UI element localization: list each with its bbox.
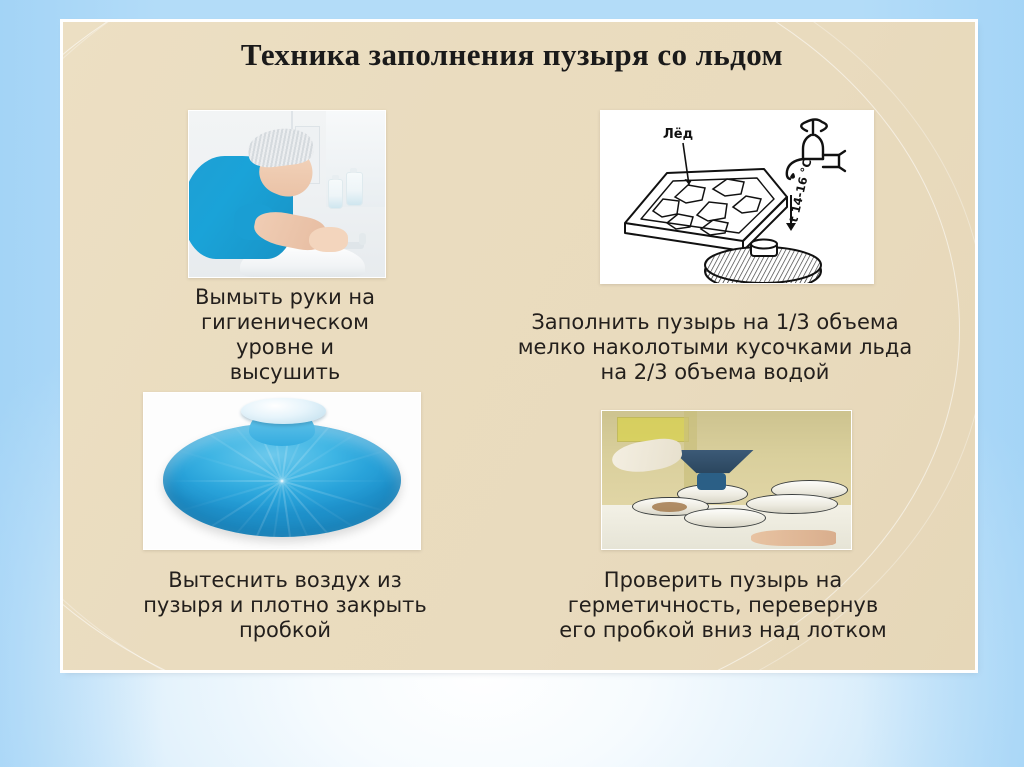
ice-bag-scene: [144, 393, 420, 549]
step-1-caption: Вымыть руки на гигиеническом уровне и вы…: [120, 285, 450, 385]
ice-tray-diagram-svg: Лёд: [601, 111, 873, 283]
slide-title: Техника заполнения пузыря со льдом: [0, 37, 1024, 73]
step-3-image-cell: [143, 392, 419, 550]
inverted-ice-bag-cap-shape: [697, 473, 727, 490]
nurse-hand-shape: [309, 227, 348, 252]
spill-shape: [652, 502, 687, 512]
handwashing-scene: [189, 111, 385, 277]
ice-bag-fold: [168, 480, 282, 482]
soap-dispenser-icon: [328, 179, 343, 209]
handwashing-photo: [188, 110, 386, 278]
ice-bag-fold: [282, 480, 392, 514]
step-2-image-cell: Лёд: [600, 110, 872, 284]
ice-label: Лёд: [663, 127, 693, 142]
enamel-basin-shape: [684, 508, 766, 528]
ice-tray-diagram: Лёд: [600, 110, 874, 284]
step-3-caption: Вытеснить воздух из пузыря и плотно закр…: [90, 568, 480, 643]
step-2-caption: Заполнить пузырь на 1/3 объема мелко нак…: [480, 310, 950, 385]
forearm-shape: [751, 530, 836, 547]
ice-bag-cap-shape: [241, 398, 327, 425]
ice-bag-fold: [281, 480, 378, 537]
gloved-hand-shape: [610, 436, 684, 477]
step-1-image-cell: [188, 110, 384, 278]
leak-test-photo: [601, 410, 852, 550]
leak-test-scene: [602, 411, 851, 549]
ice-bag-fold: [282, 480, 396, 482]
enamel-basin-shape: [746, 494, 838, 514]
antiseptic-dispenser-icon: [346, 172, 363, 206]
wall-sign-shape: [617, 417, 689, 442]
ice-bag-fold: [282, 448, 392, 482]
slide-canvas: Техника заполнения пузыря со льдом Вым: [0, 0, 1024, 767]
step-4-image-cell: [601, 410, 850, 550]
step-4-caption: Проверить пузырь на герметичность, перев…: [508, 568, 938, 643]
ice-bag-photo: [143, 392, 421, 550]
